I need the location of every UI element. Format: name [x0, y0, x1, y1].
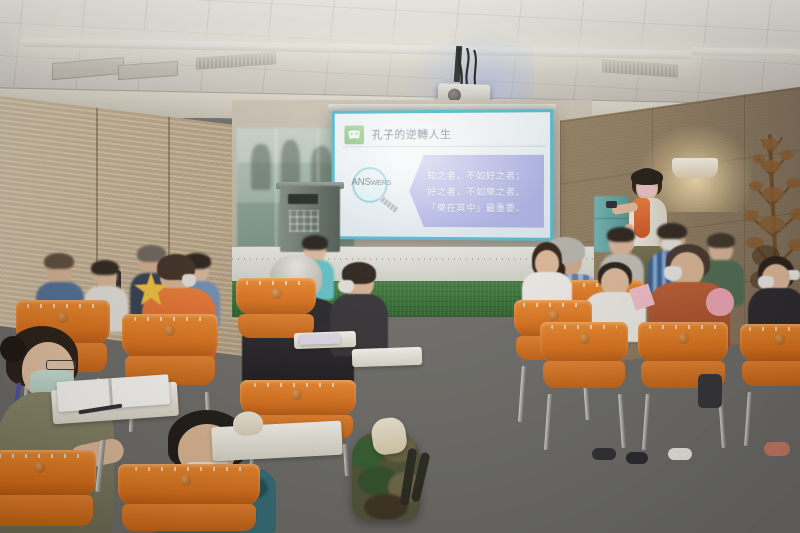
chair-seat	[543, 361, 626, 388]
glass-silhouette-1	[251, 144, 271, 190]
chair-knob	[34, 462, 45, 473]
tablet-arm-chair[interactable]	[118, 464, 260, 533]
callout-line-2: 好之者，不如樂之者。	[427, 184, 525, 198]
chair-back	[638, 322, 728, 363]
chair-knob	[678, 333, 689, 344]
lectern-screen	[288, 194, 318, 204]
chair-knob	[774, 334, 785, 345]
chair-back	[540, 322, 628, 363]
bag-on-chair	[698, 374, 722, 408]
chair-row-front-right	[496, 300, 800, 460]
shoe	[592, 448, 616, 460]
chair-rivets	[27, 304, 98, 308]
mask	[182, 274, 196, 287]
chair-rivets	[134, 317, 207, 321]
chair-knob	[57, 312, 68, 323]
chair-knob	[271, 288, 282, 299]
slide-header: 孔子的逆轉人生	[344, 120, 541, 147]
slide-title-rule	[343, 146, 547, 148]
chair-rivets	[246, 281, 307, 285]
chair-seat	[742, 361, 800, 386]
cards-icon	[344, 125, 364, 144]
tablet-arm-chair[interactable]	[740, 324, 800, 398]
chair-leg	[518, 366, 526, 422]
magnifier-label: ANSWERS	[351, 177, 406, 188]
lecture-hall-photo: 孔子的逆轉人生 ANSWERS 知之者，不如好之者； 好之者，不如樂之者。 「樂…	[0, 0, 800, 533]
chair-knob	[548, 310, 559, 321]
chair-knob	[180, 475, 191, 486]
mask	[338, 280, 354, 293]
sandal	[764, 442, 790, 456]
hair-bun	[0, 336, 26, 362]
magnifier-label-main: ANS	[351, 177, 371, 188]
chair-rivets	[551, 325, 618, 329]
magnifier-graphic: ANSWERS	[348, 167, 403, 213]
shoe	[668, 448, 692, 460]
tablet-arm-chair[interactable]	[540, 322, 628, 400]
cream-object	[232, 411, 263, 437]
chair-rivets	[649, 325, 717, 329]
magnifier-label-sub: WERS	[371, 178, 391, 187]
chair-back	[118, 464, 260, 506]
slide-title: 孔子的逆轉人生	[372, 126, 452, 142]
glasses	[46, 360, 76, 370]
chair-leg	[642, 394, 650, 450]
chair-leg	[618, 394, 626, 448]
magnifier-handle	[379, 195, 399, 213]
chair-tablet-arm-foreground[interactable]	[211, 421, 343, 462]
callout-line-3: 「樂在其中」最重要。	[427, 200, 525, 214]
cards-icon-svg	[348, 128, 361, 140]
shoe	[626, 452, 648, 464]
mask	[664, 266, 682, 281]
chair-leg	[95, 440, 105, 492]
chair-back	[236, 278, 316, 315]
chair-knob	[579, 333, 590, 344]
chair-rivets	[0, 454, 83, 458]
tablet-arm-chair[interactable]	[0, 450, 96, 533]
chair-leg	[544, 394, 552, 450]
chair-seat	[122, 504, 255, 531]
chair-rivets	[523, 303, 582, 307]
chair-leg	[744, 392, 752, 446]
chair-back	[0, 450, 96, 497]
presenter-hair-front	[631, 169, 663, 185]
chair-rivets	[749, 327, 800, 331]
callout-line-1: 知之者，不如好之者；	[427, 168, 525, 182]
presenter-mask	[638, 185, 656, 197]
chair-rivets	[135, 467, 243, 471]
chair-back	[740, 324, 800, 362]
chair-seat	[0, 495, 93, 526]
presentation-remote[interactable]	[606, 201, 617, 208]
